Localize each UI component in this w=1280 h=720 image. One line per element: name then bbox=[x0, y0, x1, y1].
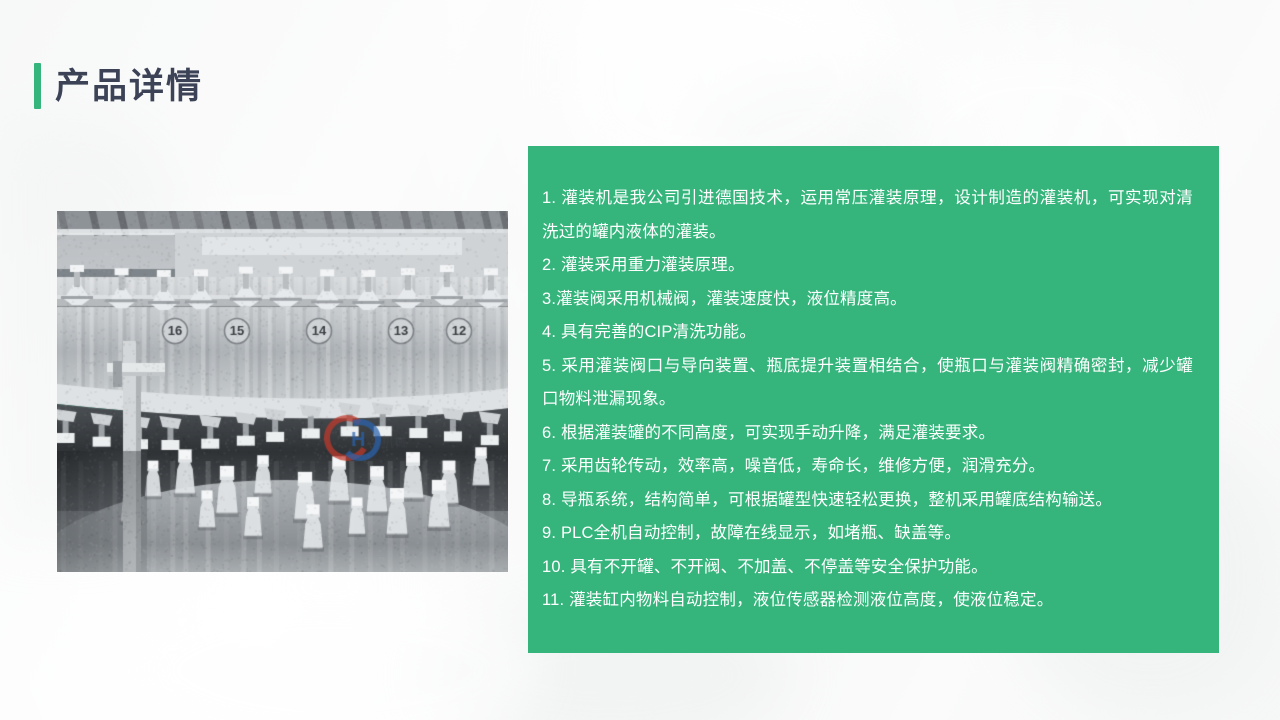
specification-item: 5. 采用灌装阀口与导向装置、瓶底提升装置相结合，使瓶口与灌装阀精确密封，减少罐… bbox=[542, 350, 1193, 417]
page-title-block: 产品详情 bbox=[34, 63, 203, 109]
specification-panel: 1. 灌装机是我公司引进德国技术，运用常压灌装原理，设计制造的灌装机，可实现对清… bbox=[528, 146, 1219, 653]
specification-item: 4. 具有完善的CIP清洗功能。 bbox=[542, 316, 1193, 350]
background-highlight-shape bbox=[120, 580, 540, 720]
specification-item: 10. 具有不开罐、不开阀、不加盖、不停盖等安全保护功能。 bbox=[542, 551, 1193, 585]
title-accent-bar bbox=[34, 63, 41, 109]
specification-item: 9. PLC全机自动控制，故障在线显示，如堵瓶、缺盖等。 bbox=[542, 517, 1193, 551]
product-photo-canvas bbox=[57, 211, 508, 572]
specification-item: 2. 灌装采用重力灌装原理。 bbox=[542, 249, 1193, 283]
specification-item: 7. 采用齿轮传动，效率高，噪音低，寿命长，维修方便，润滑充分。 bbox=[542, 450, 1193, 484]
specification-item: 11. 灌装缸内物料自动控制，液位传感器检测液位高度，使液位稳定。 bbox=[542, 584, 1193, 618]
specification-item: 8. 导瓶系统，结构简单，可根据罐型快速轻松更换，整机采用罐底结构输送。 bbox=[542, 484, 1193, 518]
product-photo bbox=[57, 211, 508, 572]
specification-list: 1. 灌装机是我公司引进德国技术，运用常压灌装原理，设计制造的灌装机，可实现对清… bbox=[542, 182, 1193, 618]
specification-item: 1. 灌装机是我公司引进德国技术，运用常压灌装原理，设计制造的灌装机，可实现对清… bbox=[542, 182, 1193, 249]
specification-item: 6. 根据灌装罐的不同高度，可实现手动升降，满足灌装要求。 bbox=[542, 417, 1193, 451]
slide-canvas: 产品详情 1. 灌装机是我公司引进德国技术，运用常压灌装原理，设计制造的灌装机，… bbox=[0, 0, 1280, 720]
page-title: 产品详情 bbox=[55, 69, 203, 104]
specification-item: 3.灌装阀采用机械阀，灌装速度快，液位精度高。 bbox=[542, 283, 1193, 317]
